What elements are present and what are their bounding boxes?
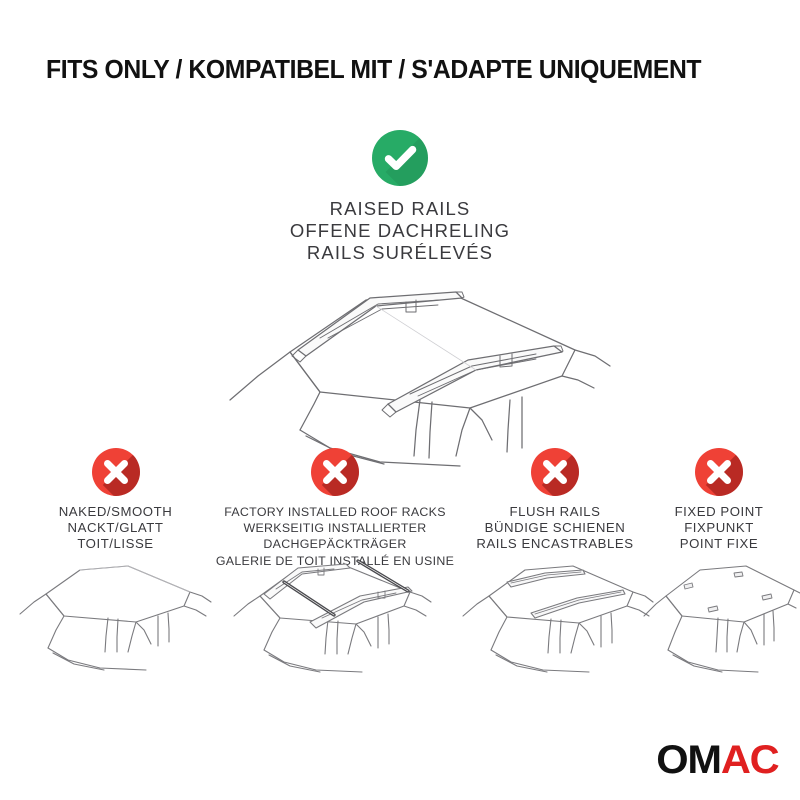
incompatible-2-label-fr: RAILS ENCASTRABLES [455,536,655,552]
car-roof-with-raised-rails-illustration [170,280,640,470]
car-roof-bare-illustration [8,556,223,676]
car-roof-flush-rails-illustration [455,556,655,676]
incompatible-3-label-fr: POINT FIXE [638,536,800,552]
omac-logo-red: AC [720,738,778,782]
incompatible-labels-2: FLUSH RAILS BÜNDIGE SCHIENEN RAILS ENCAS… [455,504,655,553]
x-circle-icon [311,448,359,496]
incompatible-1-label-en: FACTORY INSTALLED ROOF RACKS [210,504,460,520]
incompatible-icon-wrap-3 [638,448,800,496]
incompatible-1-label-de2: DACHGEPÄCKTRÄGER [210,536,460,552]
incompatible-2-label-en: FLUSH RAILS [455,504,655,520]
compatible-label-fr: RAILS SURÉLEVÉS [0,242,800,264]
incompatible-icon-wrap-2 [455,448,655,496]
compatible-label-en: RAISED RAILS [0,198,800,220]
x-circle-icon [695,448,743,496]
compatible-labels: RAISED RAILS OFFENE DACHRELING RAILS SUR… [0,198,800,264]
incompatible-item-flush-rails: FLUSH RAILS BÜNDIGE SCHIENEN RAILS ENCAS… [455,448,655,553]
incompatible-0-label-fr: TOIT/LISSE [8,536,223,552]
compatible-icon-wrap [0,130,800,186]
incompatible-3-label-en: FIXED POINT [638,504,800,520]
incompatible-3-label-de: FIXPUNKT [638,520,800,536]
compatible-section: RAISED RAILS OFFENE DACHRELING RAILS SUR… [0,130,800,264]
check-circle-icon [372,130,428,186]
x-circle-icon [531,448,579,496]
incompatible-labels-0: NAKED/SMOOTH NACKT/GLATT TOIT/LISSE [8,504,223,553]
incompatible-0-label-de: NACKT/GLATT [8,520,223,536]
incompatible-item-factory-racks: FACTORY INSTALLED ROOF RACKS WERKSEITIG … [210,448,460,569]
omac-logo-dark: OM [656,738,721,782]
incompatible-1-label-de1: WERKSEITIG INSTALLIERTER [210,520,460,536]
compatible-label-de: OFFENE DACHRELING [0,220,800,242]
incompatible-icon-wrap-1 [210,448,460,496]
incompatible-item-naked-smooth: NAKED/SMOOTH NACKT/GLATT TOIT/LISSE [8,448,223,553]
incompatible-icon-wrap-0 [8,448,223,496]
page-title: FITS ONLY / KOMPATIBEL MIT / S'ADAPTE UN… [46,56,701,85]
header-bar: FITS ONLY / KOMPATIBEL MIT / S'ADAPTE UN… [0,0,800,108]
incompatible-item-fixed-point: FIXED POINT FIXPUNKT POINT FIXE [638,448,800,553]
car-roof-with-factory-crossbars-illustration [210,556,460,676]
car-roof-fixed-points-illustration [638,556,800,676]
omac-logo: OMAC [656,740,778,780]
incompatible-section: NAKED/SMOOTH NACKT/GLATT TOIT/LISSE [0,448,800,718]
incompatible-2-label-de: BÜNDIGE SCHIENEN [455,520,655,536]
incompatible-labels-3: FIXED POINT FIXPUNKT POINT FIXE [638,504,800,553]
x-circle-icon [92,448,140,496]
incompatible-0-label-en: NAKED/SMOOTH [8,504,223,520]
